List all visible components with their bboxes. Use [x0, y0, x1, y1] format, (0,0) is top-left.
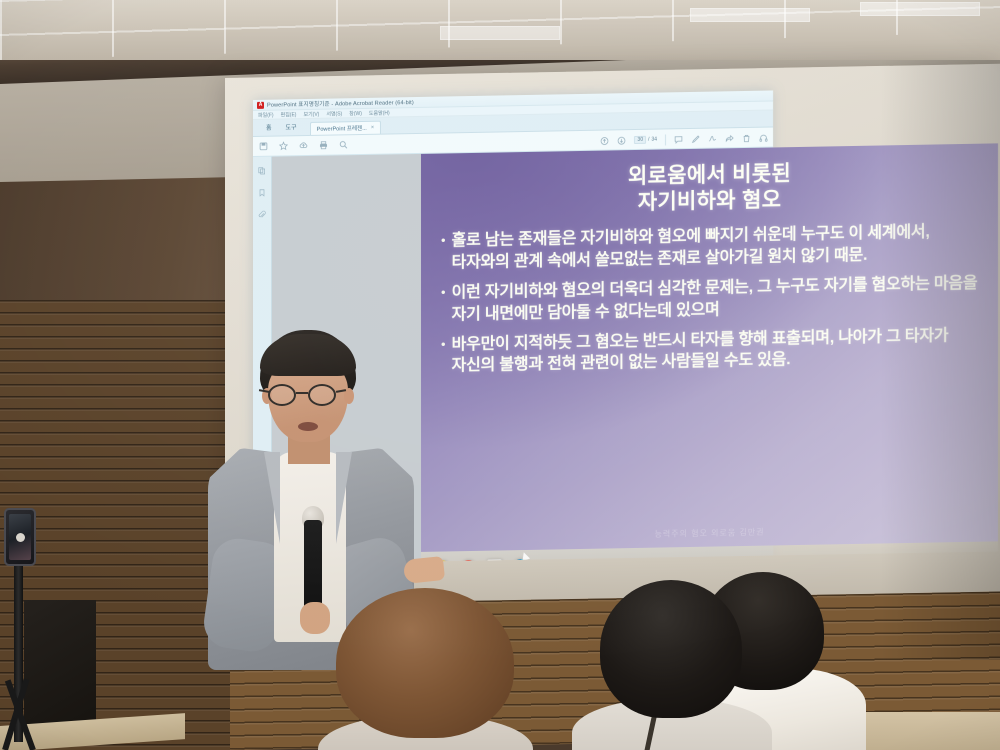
upload-cloud-icon[interactable]	[299, 141, 308, 150]
presenter-mouth	[298, 422, 318, 431]
menu-view[interactable]: 보기(V)	[303, 110, 319, 117]
ceiling-light-panel	[860, 2, 980, 16]
highlight-pen-icon[interactable]	[691, 134, 700, 143]
tab-tools[interactable]: 도구	[279, 122, 304, 135]
current-page-input[interactable]: 30	[634, 136, 646, 144]
glasses-bridge	[296, 392, 308, 394]
arrow-down-circle-icon[interactable]	[617, 136, 626, 145]
presenter-hair-front	[260, 334, 356, 376]
page-thumbnails-icon[interactable]	[258, 167, 266, 175]
delete-icon[interactable]	[742, 133, 751, 142]
search-icon[interactable]	[339, 140, 348, 149]
menu-edit[interactable]: 편집(E)	[281, 111, 297, 118]
menu-sign[interactable]: 서명(S)	[326, 110, 342, 117]
window-title: PowerPoint 표지명칭기준 - Adobe Acrobat Reader…	[267, 98, 414, 109]
glasses-temple-left	[259, 389, 269, 393]
lecture-room-photo: A PowerPoint 표지명칭기준 - Adobe Acrobat Read…	[0, 0, 1000, 750]
tab-home-label: 홈	[266, 123, 272, 132]
menu-window[interactable]: 창(W)	[349, 110, 362, 117]
menu-file[interactable]: 파일(F)	[258, 111, 274, 118]
arrow-up-circle-icon[interactable]	[600, 136, 609, 145]
bullet-point-icon: •	[441, 335, 446, 352]
print-icon[interactable]	[319, 141, 328, 150]
audience-head	[600, 580, 742, 718]
share-icon[interactable]	[725, 134, 734, 143]
glasses-temple-right	[336, 389, 346, 393]
read-aloud-icon[interactable]	[759, 133, 768, 142]
bullet-point-icon: •	[441, 232, 446, 249]
star-icon[interactable]	[279, 141, 288, 150]
bullet-point-icon: •	[441, 284, 446, 301]
presenter-hand-holding-mic	[300, 602, 330, 634]
save-icon[interactable]	[259, 142, 268, 151]
close-icon[interactable]: ×	[371, 125, 374, 131]
audience-head	[336, 588, 514, 738]
signature-icon[interactable]	[708, 134, 717, 143]
acrobat-logo-icon: A	[257, 101, 264, 108]
smartphone-on-tripod	[0, 500, 60, 750]
ceiling-light-panel	[690, 8, 810, 22]
wall-shadow	[880, 60, 1000, 660]
glasses-lens-right	[308, 384, 336, 406]
ceiling-light-panel	[440, 26, 560, 40]
glasses-lens-left	[268, 384, 296, 406]
comment-icon[interactable]	[674, 135, 683, 144]
record-button-icon[interactable]	[16, 533, 25, 542]
bookmarks-icon[interactable]	[258, 189, 266, 197]
toolbar-divider	[665, 134, 666, 145]
page-separator: /	[648, 137, 649, 143]
total-pages: 34	[651, 137, 657, 143]
audience-member-1	[328, 588, 523, 750]
phone-screen[interactable]	[9, 514, 31, 560]
presenter-lapel-right	[336, 452, 352, 544]
tab-document[interactable]: PowerPoint 프레젠... ×	[310, 121, 381, 135]
menu-help[interactable]: 도움말(H)	[369, 109, 390, 116]
tab-home[interactable]: 홈	[257, 123, 279, 136]
page-indicator[interactable]: 30 / 34	[634, 136, 657, 144]
glasses-icon	[264, 384, 354, 406]
presenter-hand-gesturing	[403, 556, 445, 584]
smartphone[interactable]	[4, 508, 36, 566]
attachments-icon[interactable]	[258, 211, 266, 219]
audience-member-2	[590, 580, 750, 750]
presenter-lapel-left	[264, 452, 280, 544]
tab-document-label: PowerPoint 프레젠...	[317, 124, 367, 133]
ceiling-tiles	[0, 0, 1000, 60]
